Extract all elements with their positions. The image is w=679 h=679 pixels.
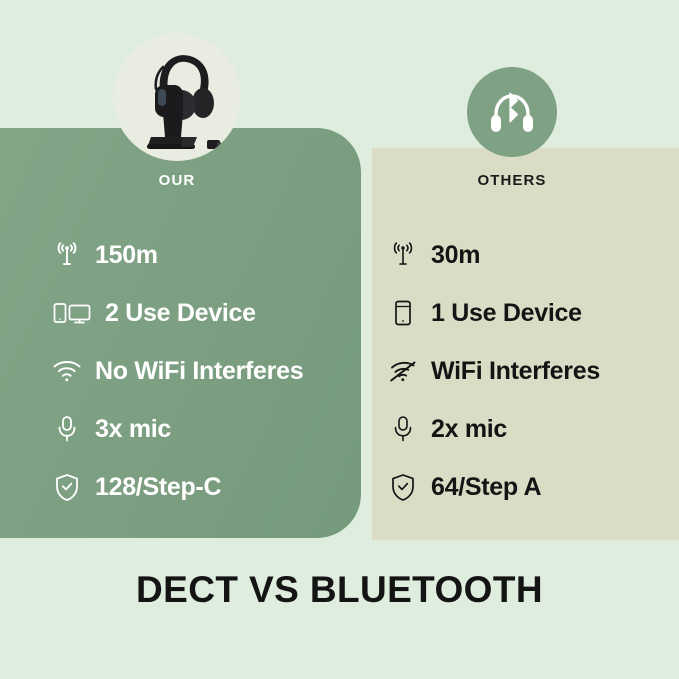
bluetooth-headphones-icon (484, 84, 540, 140)
microphone-icon (52, 414, 82, 444)
feature-label: 2x mic (431, 415, 507, 444)
feature-label: WiFi Interferes (431, 357, 600, 386)
feature-row-devices: 1 Use Device (388, 284, 668, 342)
wifi-icon (52, 356, 82, 386)
feature-row-mic: 2x mic (388, 400, 668, 458)
feature-row-mic: 3x mic (52, 400, 352, 458)
feature-row-range: 30m (388, 226, 668, 284)
feature-label: 2 Use Device (105, 299, 256, 328)
shield-check-icon (52, 472, 82, 502)
feature-label: 30m (431, 241, 480, 270)
feature-label: 1 Use Device (431, 299, 582, 328)
feature-row-devices: 2 Use Device (52, 284, 352, 342)
shield-check-icon (388, 472, 418, 502)
signal-antenna-icon (52, 240, 82, 270)
feature-row-wifi: WiFi Interferes (388, 342, 668, 400)
feature-row-wifi: No WiFi Interferes (52, 342, 352, 400)
phone-and-monitor-icon (52, 298, 92, 328)
our-product-badge (113, 33, 241, 161)
feature-label: 64/Step A (431, 473, 541, 502)
wifi-off-icon (388, 356, 418, 386)
wireless-headset-with-charging-stand-photo (113, 33, 241, 161)
feature-label: 150m (95, 241, 158, 270)
feature-label: No WiFi Interferes (95, 357, 303, 386)
phone-icon (388, 298, 418, 328)
our-column-label: OUR (57, 172, 297, 189)
others-feature-list: 30m 1 Use Device (388, 226, 668, 516)
bottom-title: DECT VS BLUETOOTH (0, 569, 679, 611)
feature-label: 3x mic (95, 415, 171, 444)
feature-row-security: 128/Step-C (52, 458, 352, 516)
feature-label: 128/Step-C (95, 473, 221, 502)
signal-antenna-icon (388, 240, 418, 270)
our-feature-list: 150m 2 Use Device (52, 226, 352, 516)
feature-row-range: 150m (52, 226, 352, 284)
others-product-badge (467, 67, 557, 157)
microphone-icon (388, 414, 418, 444)
comparison-infographic: OUR OTHERS 150m (0, 0, 679, 679)
others-column-label: OTHERS (392, 172, 632, 189)
feature-row-security: 64/Step A (388, 458, 668, 516)
